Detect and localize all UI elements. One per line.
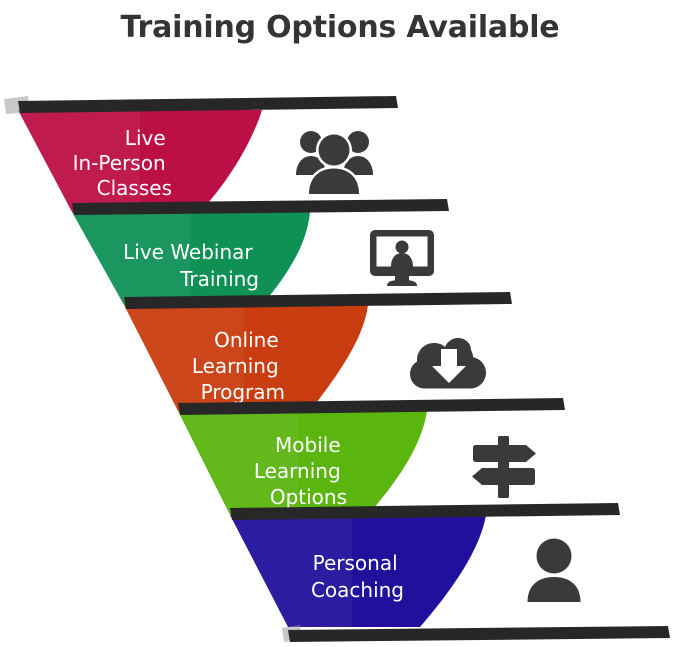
funnel-stage-label-line: Live [125, 126, 166, 150]
funnel-stage-label-line: Live Webinar [123, 240, 253, 264]
funnel-stage-label-line: Program [201, 380, 285, 404]
funnel-stage-online-learning-program[interactable]: Online Learning Program [124, 305, 368, 411]
funnel-stage-label-line: Coaching [311, 578, 404, 602]
funnel-stage-label-line: Learning [192, 354, 279, 378]
funnel-stage-mobile-learning-options[interactable]: Mobile Learning Options [178, 411, 427, 515]
funnel-stage-label-line: Online [214, 328, 279, 352]
signpost-icon [472, 436, 536, 498]
webinar-monitor-icon [370, 230, 434, 286]
funnel-stage-label-line: Mobile [275, 433, 341, 457]
funnel-stage-label-line: Classes [97, 176, 172, 200]
funnel-stage-live-in-person-classes[interactable]: Live In-Person Classes [18, 110, 262, 212]
funnel-stage-live-webinar-training[interactable]: Live Webinar Training [72, 212, 310, 305]
divider-bar-bottom [288, 626, 670, 642]
funnel-chart: Live In-Person Classes Live Webinar Trai… [0, 0, 680, 647]
cloud-download-icon [410, 338, 486, 389]
funnel-stage-label-line: Learning [254, 459, 341, 483]
funnel-stage-label-line: Options [270, 485, 347, 509]
funnel-stage-label-line: Personal [313, 551, 398, 575]
divider-bar-top [18, 96, 398, 113]
funnel-stage-label-line: Training [179, 267, 259, 291]
funnel-infographic: Training Options Available Live In-Perso… [0, 0, 680, 647]
person-icon [526, 539, 582, 603]
funnel-stage-personal-coaching[interactable]: Personal Coaching [230, 515, 486, 627]
group-icon [296, 131, 373, 194]
funnel-stage-label-line: In-Person [73, 151, 166, 175]
